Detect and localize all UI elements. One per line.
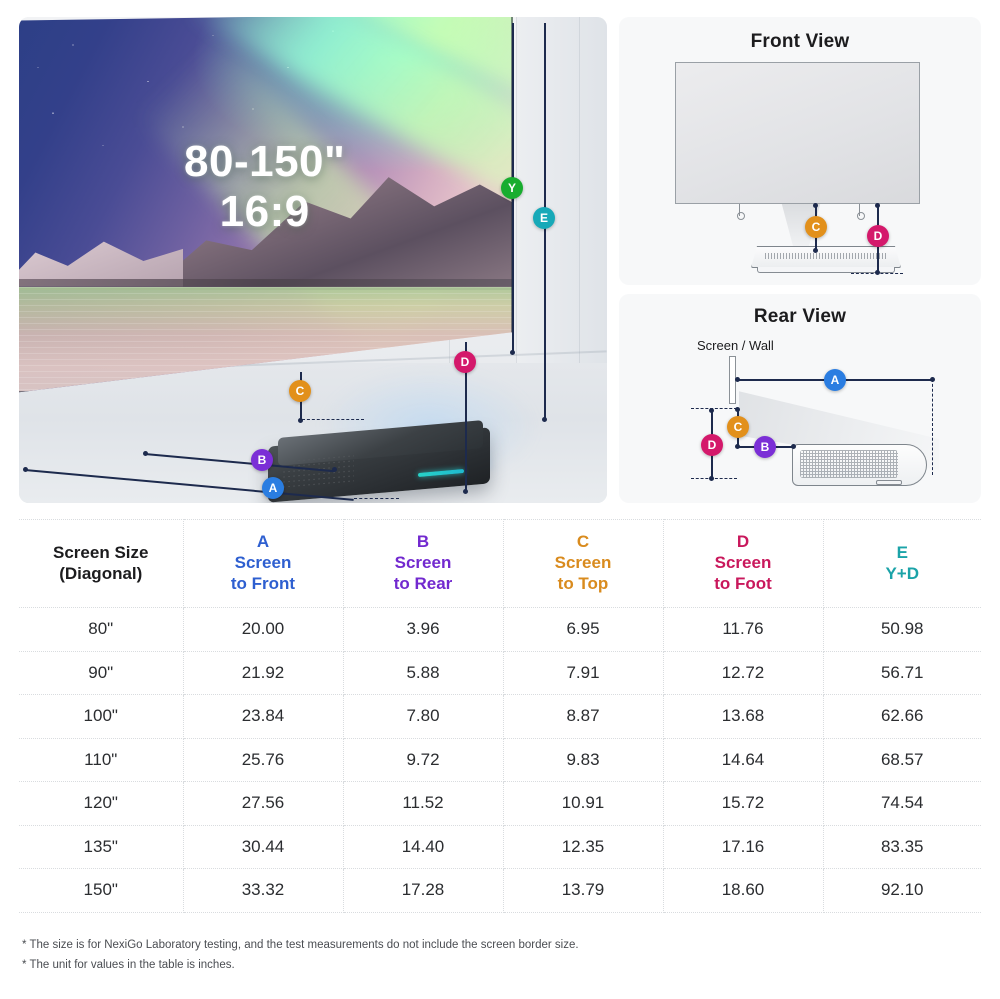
marker-label: C bbox=[812, 220, 821, 234]
header-line: Screen Size bbox=[23, 543, 179, 564]
marker-D: D bbox=[454, 351, 476, 373]
cell-value: 23.84 bbox=[183, 695, 343, 739]
dimension-endpoint bbox=[735, 377, 740, 382]
screen-hook-icon bbox=[859, 204, 860, 216]
projector-vent bbox=[800, 450, 898, 478]
col-header-D: D Screen to Foot bbox=[663, 520, 823, 608]
dimension-endpoint bbox=[463, 489, 468, 494]
cell-value: 5.88 bbox=[343, 651, 503, 695]
footnote-2: * The unit for values in the table is in… bbox=[22, 956, 922, 976]
col-header-screen-size: Screen Size (Diagonal) bbox=[19, 520, 183, 608]
dimension-endpoint bbox=[709, 408, 714, 413]
projected-screen-image bbox=[19, 17, 513, 393]
header-line: Screen bbox=[668, 553, 819, 574]
cell-value: 12.35 bbox=[503, 825, 663, 869]
marker-label: A bbox=[269, 481, 278, 495]
cell-screen-size: 90" bbox=[19, 651, 183, 695]
marker-label: D bbox=[461, 355, 470, 369]
cell-value: 3.96 bbox=[343, 608, 503, 652]
screen-hook-icon bbox=[739, 204, 740, 216]
dimension-guide-dashed bbox=[691, 408, 737, 409]
marker-Y: Y bbox=[501, 177, 523, 199]
marker-label: C bbox=[296, 384, 305, 398]
cell-value: 12.72 bbox=[663, 651, 823, 695]
cell-value: 83.35 bbox=[823, 825, 981, 869]
projector-foot bbox=[876, 480, 902, 485]
cell-value: 68.57 bbox=[823, 738, 981, 782]
dimension-endpoint bbox=[510, 350, 515, 355]
dimension-endpoint bbox=[23, 467, 28, 472]
dimension-guide-dashed bbox=[354, 498, 399, 499]
screen-border bbox=[19, 17, 513, 393]
dimension-guide-dashed bbox=[851, 273, 903, 274]
marker-label: E bbox=[540, 211, 548, 225]
header-letter: B bbox=[348, 532, 499, 553]
footnote-1: * The size is for NexiGo Laboratory test… bbox=[22, 936, 922, 956]
cell-value: 7.91 bbox=[503, 651, 663, 695]
col-header-A: A Screen to Front bbox=[183, 520, 343, 608]
front-view-projector bbox=[751, 246, 901, 268]
marker-label: C bbox=[734, 420, 743, 434]
marker-label: B bbox=[258, 453, 267, 467]
rear-marker-A: A bbox=[824, 369, 846, 391]
table-row: 120"27.5611.5210.9115.7274.54 bbox=[19, 782, 981, 826]
cell-value: 11.52 bbox=[343, 782, 503, 826]
cell-value: 6.95 bbox=[503, 608, 663, 652]
dimension-endpoint bbox=[332, 467, 337, 472]
cell-value: 21.92 bbox=[183, 651, 343, 695]
header-letter: A bbox=[188, 532, 339, 553]
table-header-row: Screen Size (Diagonal) A Screen to Front… bbox=[19, 520, 981, 608]
front-view-screen bbox=[675, 62, 920, 204]
marker-E: E bbox=[533, 207, 555, 229]
cell-value: 20.00 bbox=[183, 608, 343, 652]
marker-label: D bbox=[874, 229, 883, 243]
dimension-endpoint bbox=[875, 203, 880, 208]
cell-value: 50.98 bbox=[823, 608, 981, 652]
col-header-C: C Screen to Top bbox=[503, 520, 663, 608]
marker-B: B bbox=[251, 449, 273, 471]
projector-throw-distance-page: 80-150" 16:9 Y E bbox=[0, 0, 1000, 999]
col-header-B: B Screen to Rear bbox=[343, 520, 503, 608]
header-line: to Top bbox=[508, 574, 659, 595]
header-line: (Diagonal) bbox=[23, 564, 179, 585]
cell-value: 13.79 bbox=[503, 869, 663, 913]
dimension-guide-dashed bbox=[302, 419, 364, 420]
header-line: to Foot bbox=[668, 574, 819, 595]
dimension-endpoint bbox=[542, 417, 547, 422]
cell-screen-size: 100" bbox=[19, 695, 183, 739]
header-letter: C bbox=[508, 532, 659, 553]
cell-value: 27.56 bbox=[183, 782, 343, 826]
header-line: Y+D bbox=[828, 564, 978, 585]
table-header: Screen Size (Diagonal) A Screen to Front… bbox=[19, 520, 981, 608]
dimension-guide-dashed bbox=[932, 379, 933, 475]
cell-value: 10.91 bbox=[503, 782, 663, 826]
dimension-endpoint bbox=[143, 451, 148, 456]
cell-screen-size: 150" bbox=[19, 869, 183, 913]
front-view-card: Front View C D bbox=[619, 17, 981, 285]
cell-value: 8.87 bbox=[503, 695, 663, 739]
cell-value: 14.40 bbox=[343, 825, 503, 869]
cell-value: 56.71 bbox=[823, 651, 981, 695]
dimension-endpoint bbox=[813, 248, 818, 253]
dimension-endpoint bbox=[813, 203, 818, 208]
col-header-E: E Y+D bbox=[823, 520, 981, 608]
throw-distance-table: Screen Size (Diagonal) A Screen to Front… bbox=[19, 519, 981, 913]
cell-value: 13.68 bbox=[663, 695, 823, 739]
header-line: Screen bbox=[508, 553, 659, 574]
spec-table-wrapper: Screen Size (Diagonal) A Screen to Front… bbox=[19, 519, 981, 913]
dimension-guide-dashed bbox=[691, 478, 737, 479]
marker-label: A bbox=[831, 373, 840, 387]
rear-view-card: Rear View Screen / Wall A C bbox=[619, 294, 981, 503]
front-view-title: Front View bbox=[619, 31, 981, 53]
marker-A: A bbox=[262, 477, 284, 499]
cell-value: 30.44 bbox=[183, 825, 343, 869]
header-letter: E bbox=[828, 543, 978, 564]
header-line: Screen bbox=[188, 553, 339, 574]
cell-value: 14.64 bbox=[663, 738, 823, 782]
table-body: 80"20.003.966.9511.7650.9890"21.925.887.… bbox=[19, 608, 981, 913]
marker-label: Y bbox=[508, 181, 516, 195]
cell-value: 17.28 bbox=[343, 869, 503, 913]
cell-value: 25.76 bbox=[183, 738, 343, 782]
projector-vent bbox=[765, 253, 887, 259]
cell-screen-size: 135" bbox=[19, 825, 183, 869]
cell-value: 15.72 bbox=[663, 782, 823, 826]
screen-wall-label: Screen / Wall bbox=[697, 338, 774, 353]
cell-screen-size: 80" bbox=[19, 608, 183, 652]
front-marker-C: C bbox=[805, 216, 827, 238]
diagram-area: 80-150" 16:9 Y E bbox=[0, 0, 1000, 512]
cell-screen-size: 120" bbox=[19, 782, 183, 826]
dimension-endpoint bbox=[791, 444, 796, 449]
cell-value: 11.76 bbox=[663, 608, 823, 652]
rear-marker-D: D bbox=[701, 434, 723, 456]
projector-device bbox=[268, 423, 494, 501]
table-row: 80"20.003.966.9511.7650.98 bbox=[19, 608, 981, 652]
rear-marker-B: B bbox=[754, 436, 776, 458]
marker-C: C bbox=[289, 380, 311, 402]
hero-room-photo: 80-150" 16:9 Y E bbox=[19, 17, 607, 503]
cell-value: 74.54 bbox=[823, 782, 981, 826]
rear-view-title: Rear View bbox=[619, 306, 981, 328]
cell-value: 7.80 bbox=[343, 695, 503, 739]
marker-label: B bbox=[761, 440, 770, 454]
cell-screen-size: 110" bbox=[19, 738, 183, 782]
table-row: 150"33.3217.2813.7918.6092.10 bbox=[19, 869, 981, 913]
header-line: to Rear bbox=[348, 574, 499, 595]
table-row: 110"25.769.729.8314.6468.57 bbox=[19, 738, 981, 782]
marker-label: D bbox=[708, 438, 717, 452]
cell-value: 33.32 bbox=[183, 869, 343, 913]
header-line: to Front bbox=[188, 574, 339, 595]
header-line: Screen bbox=[348, 553, 499, 574]
cell-value: 9.83 bbox=[503, 738, 663, 782]
cell-value: 62.66 bbox=[823, 695, 981, 739]
header-letter: D bbox=[668, 532, 819, 553]
cell-value: 17.16 bbox=[663, 825, 823, 869]
rear-view-projector bbox=[792, 444, 927, 486]
table-row: 100"23.847.808.8713.6862.66 bbox=[19, 695, 981, 739]
cell-value: 18.60 bbox=[663, 869, 823, 913]
footnotes: * The size is for NexiGo Laboratory test… bbox=[22, 936, 922, 976]
cell-value: 92.10 bbox=[823, 869, 981, 913]
cell-value: 9.72 bbox=[343, 738, 503, 782]
rear-marker-C: C bbox=[727, 416, 749, 438]
table-row: 135"30.4414.4012.3517.1683.35 bbox=[19, 825, 981, 869]
front-marker-D: D bbox=[867, 225, 889, 247]
table-row: 90"21.925.887.9112.7256.71 bbox=[19, 651, 981, 695]
